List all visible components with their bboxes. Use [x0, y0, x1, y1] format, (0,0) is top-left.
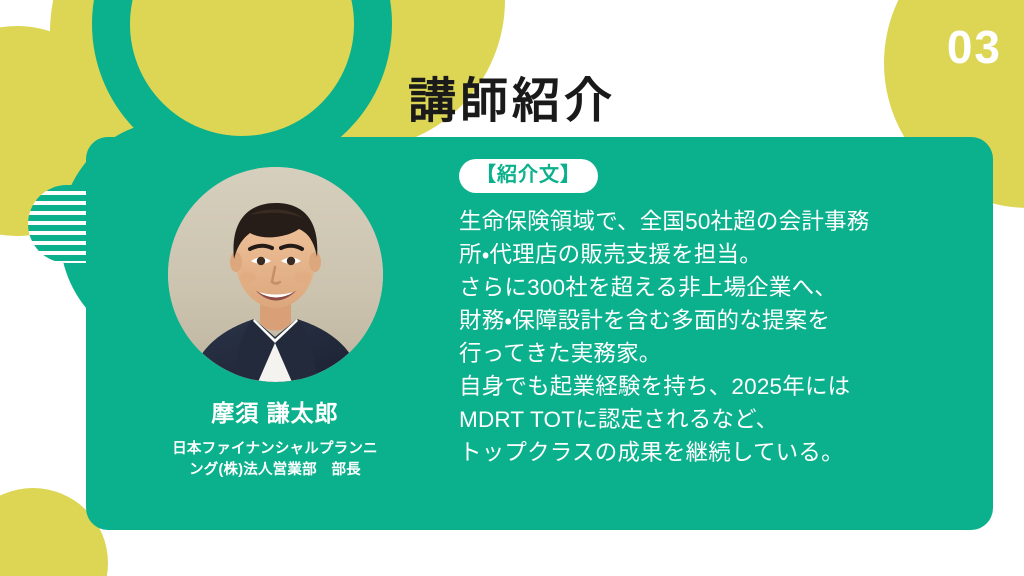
speaker-name: 摩須 謙太郎 [110, 400, 440, 428]
speaker-role-line: 日本ファイナンシャルプランニ [172, 441, 378, 457]
page-title: 講師紹介 [0, 76, 1024, 129]
bio-section: 【紹介文】 生命保険領域で、全国50社超の会計事務 所・代理店の販売支援を担当。… [459, 159, 967, 470]
bio-badge: 【紹介文】 [459, 159, 598, 193]
bio-text: 生命保険領域で、全国50社超の会計事務 所・代理店の販売支援を担当。 さらに30… [459, 205, 967, 470]
bio-line: さらに300社を超える非上場企業へ、 [459, 271, 967, 304]
bio-line: 行ってきた実務家。 [459, 337, 967, 370]
page-number: 03 [947, 24, 1002, 70]
portrait-photo-icon [168, 167, 383, 382]
bio-line: 生命保険領域で、全国50社超の会計事務 [459, 205, 967, 238]
speaker-role-line: ング(株)法人営業部 部長 [189, 462, 361, 478]
bio-line: 財務・保障設計を含む多面的な提案を [459, 304, 967, 337]
bio-line: トップクラスの成果を継続している。 [459, 436, 967, 469]
speaker-profile: 摩須 謙太郎 日本ファイナンシャルプランニ ング(株)法人営業部 部長 [110, 167, 440, 482]
speaker-card: 摩須 謙太郎 日本ファイナンシャルプランニ ング(株)法人営業部 部長 【紹介文… [86, 137, 993, 530]
avatar [168, 167, 383, 382]
slide-canvas: 03 講師紹介 [0, 0, 1024, 576]
striped-half-disc-shape [28, 185, 88, 263]
bio-line: MDRT TOTに認定されるなど、 [459, 403, 967, 436]
bio-line: 所・代理店の販売支援を担当。 [459, 238, 967, 271]
speaker-role: 日本ファイナンシャルプランニ ング(株)法人営業部 部長 [110, 439, 440, 483]
bio-line: 自身でも起業経験を持ち、2025年には [459, 370, 967, 403]
